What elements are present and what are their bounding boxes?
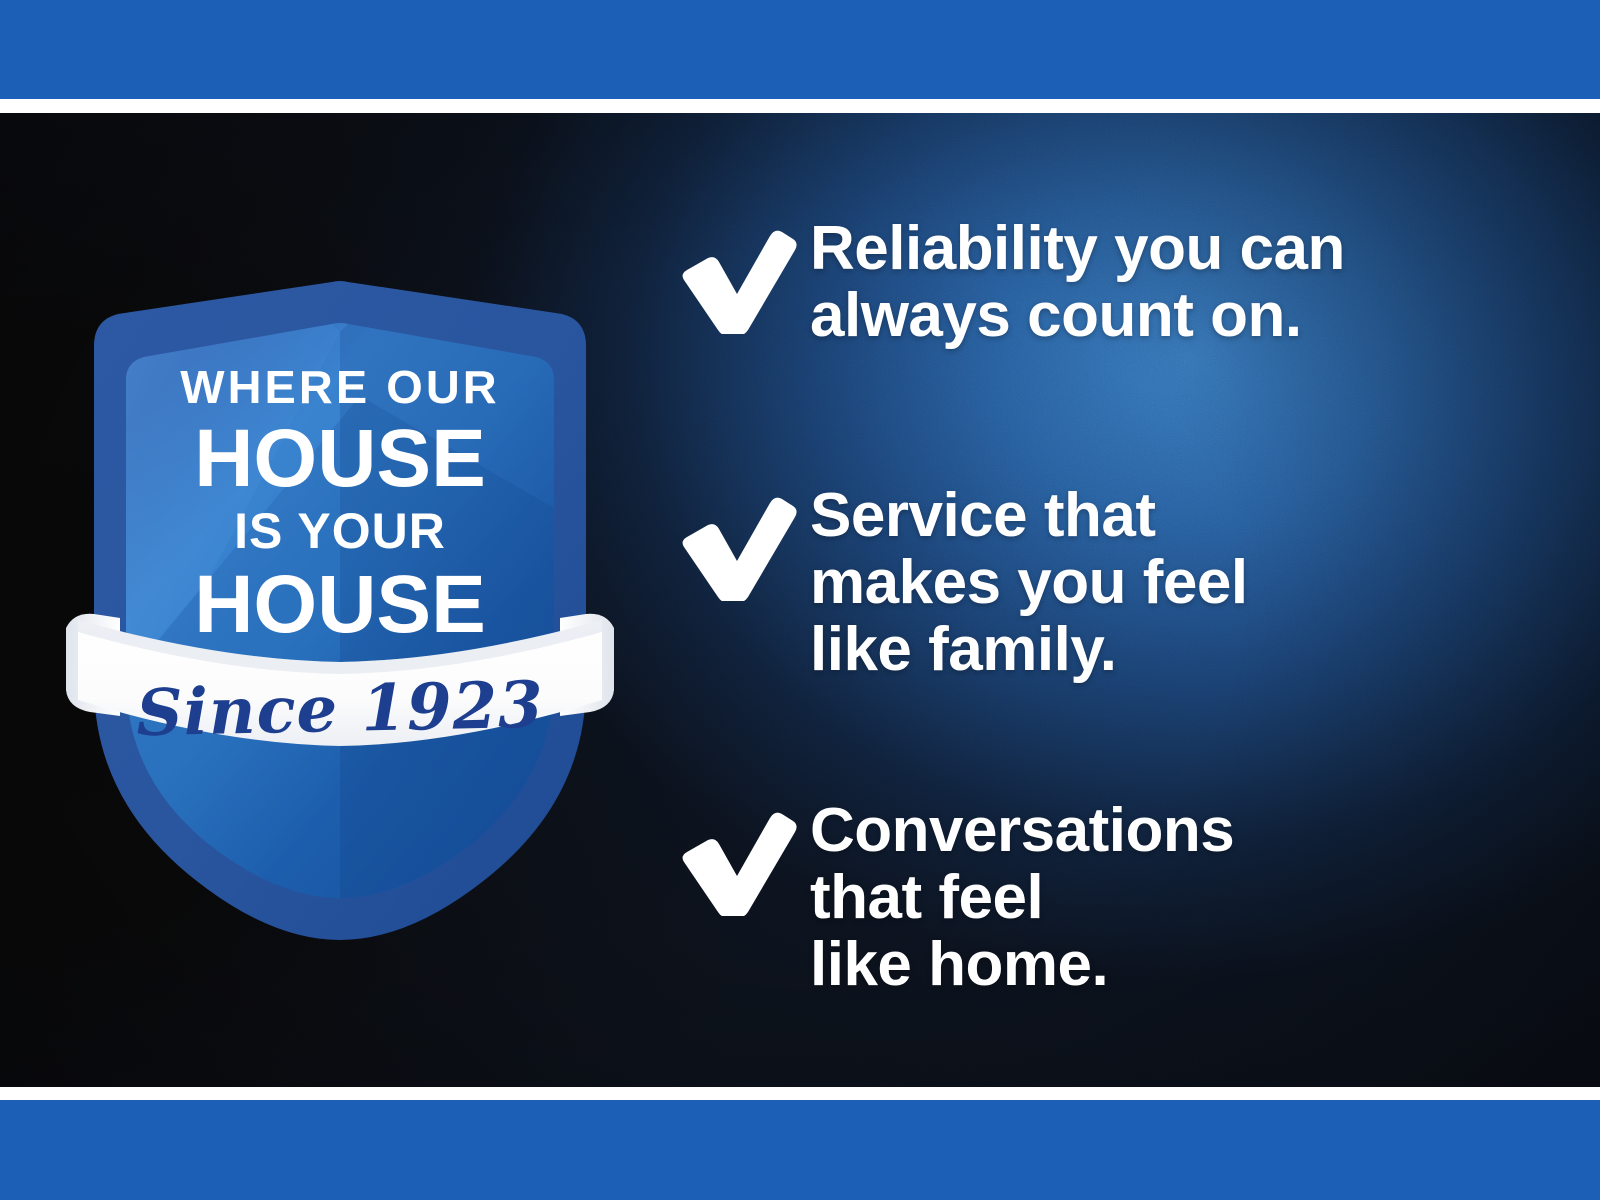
check-icon-wrap: [660, 790, 810, 916]
benefit-text-conversations: Conversations that feel like home.: [810, 798, 1234, 999]
bottom-brand-bar: [0, 1100, 1600, 1200]
check-icon-wrap: [660, 208, 810, 334]
promo-graphic: WHERE OUR HOUSE IS YOUR HOUSE Since 1923…: [0, 0, 1600, 1200]
check-icon: [660, 214, 800, 334]
benefit-item-conversations: Conversations that feel like home.: [660, 790, 1234, 999]
check-icon: [660, 481, 800, 601]
benefit-item-reliability: Reliability you can always count on.: [660, 208, 1345, 350]
benefit-line: makes you feel: [810, 550, 1248, 617]
benefit-line: Reliability you can: [810, 216, 1345, 283]
shield-badge: WHERE OUR HOUSE IS YOUR HOUSE Since 1923: [60, 276, 620, 956]
main-stage: WHERE OUR HOUSE IS YOUR HOUSE Since 1923…: [0, 113, 1600, 1087]
shield-icon: [60, 276, 620, 956]
check-icon-wrap: [660, 475, 810, 601]
benefit-line: that feel: [810, 865, 1234, 932]
benefit-item-service: Service that makes you feel like family.: [660, 475, 1248, 684]
benefit-line: Conversations: [810, 798, 1234, 865]
benefit-text-service: Service that makes you feel like family.: [810, 483, 1248, 684]
top-brand-bar: [0, 0, 1600, 99]
benefit-line: Service that: [810, 483, 1248, 550]
check-icon: [660, 796, 800, 916]
benefit-line: like home.: [810, 932, 1234, 999]
benefit-text-reliability: Reliability you can always count on.: [810, 216, 1345, 350]
benefit-line: always count on.: [810, 283, 1345, 350]
benefit-line: like family.: [810, 617, 1248, 684]
